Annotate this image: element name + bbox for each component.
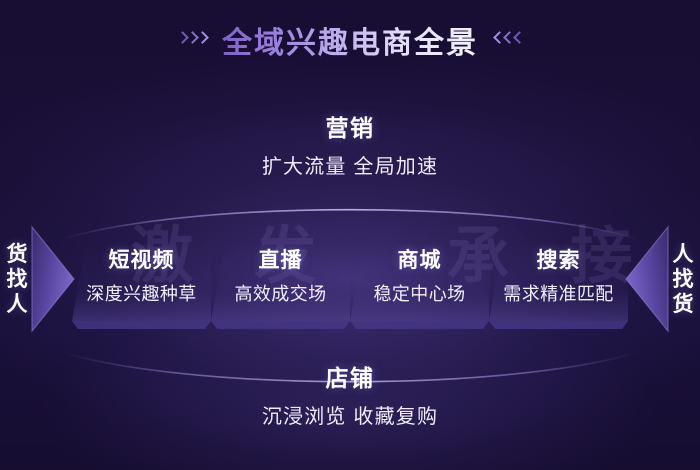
card-title: 商城 [398,248,442,274]
page-title: 全域兴趣电商全景 [222,18,478,62]
card-subtitle: 高效成交场 [235,283,327,306]
arrow-left-icon [624,221,670,337]
scenario-card[interactable]: 商城 稳定中心场 [350,243,489,331]
chevrons-right-icon [177,31,206,49]
scenario-card-row: 短视频 深度兴趣种草 直播 高效成交场 商城 稳定中心场 [72,243,628,331]
marketing-block: 营销 扩大流量 全局加速 [0,113,700,180]
shop-block: 店铺 沉浸浏览 收藏复购 [0,363,700,430]
shop-title: 店铺 [0,363,700,393]
left-flow-indicator: 货找人 [4,215,76,343]
card-title: 短视频 [109,248,175,274]
card-title: 搜索 [537,248,581,274]
card-title: 直播 [259,248,303,274]
shop-subtitle: 沉浸浏览 收藏复购 [0,404,700,430]
scenario-card[interactable]: 直播 高效成交场 [211,243,350,331]
right-flow-label: 人找货 [670,242,696,317]
marketing-subtitle: 扩大流量 全局加速 [0,154,700,180]
scenario-card[interactable]: 搜索 需求精准匹配 [489,243,628,331]
arrow-right-icon [30,221,76,337]
card-subtitle: 稳定中心场 [374,283,466,306]
infographic-canvas: 激 发 承 接 全域兴趣电商全景 营销 扩大流量 全局加速 货找人 人找货 [0,0,700,470]
chevrons-left-icon [494,31,523,49]
card-subtitle: 需求精准匹配 [503,283,613,306]
page-title-row: 全域兴趣电商全景 [0,18,700,62]
scenario-card[interactable]: 短视频 深度兴趣种草 [72,243,211,331]
card-subtitle: 深度兴趣种草 [86,283,196,306]
right-flow-indicator: 人找货 [624,215,696,343]
left-flow-label: 货找人 [4,242,30,317]
marketing-title: 营销 [0,113,700,143]
